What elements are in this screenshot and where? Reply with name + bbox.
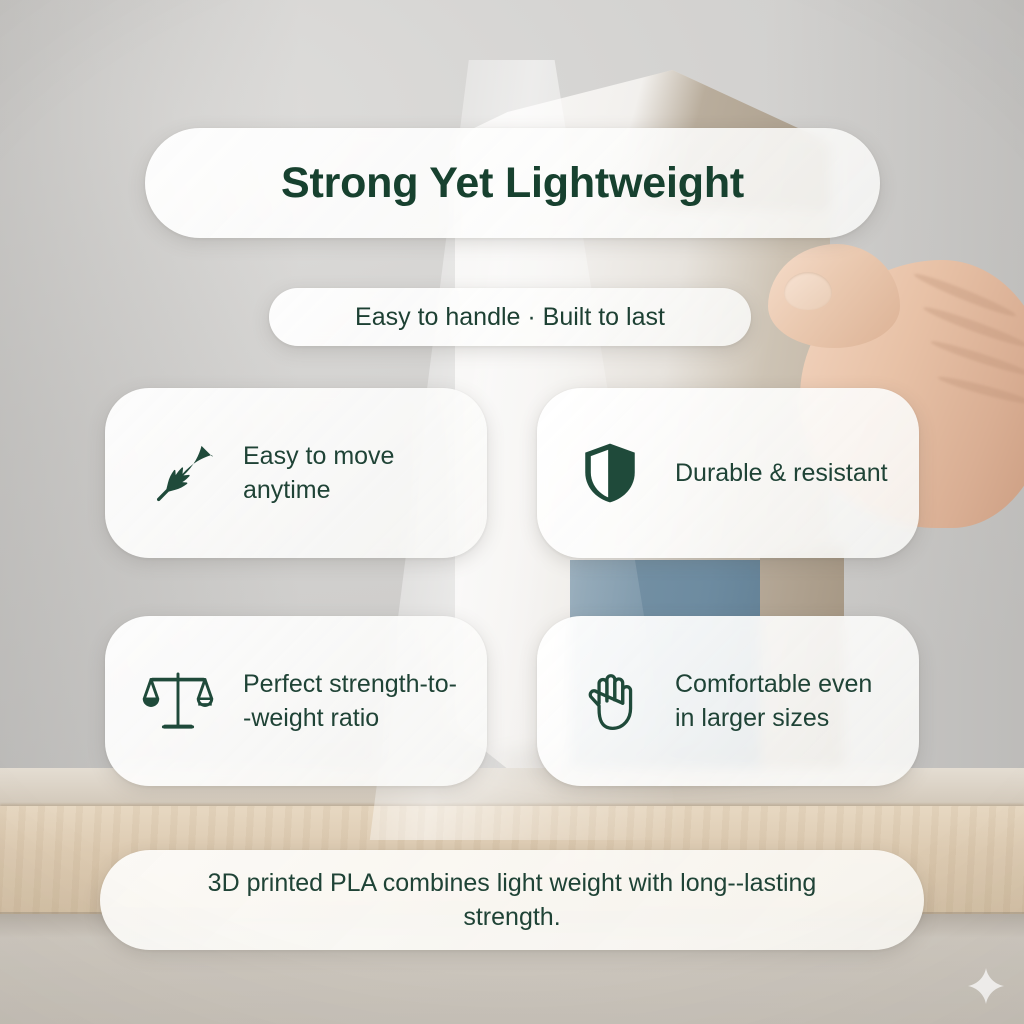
feature-card-strength-to-weight[interactable]: Perfect strength-to--weight ratio bbox=[105, 616, 487, 786]
feather-icon bbox=[139, 434, 217, 512]
hero-title-pill: Strong Yet Lightweight bbox=[145, 128, 880, 238]
feature-card-easy-to-move[interactable]: Easy to move anytime bbox=[105, 388, 487, 558]
hero-subtitle-pill: Easy to handle · Built to last bbox=[269, 288, 751, 346]
feature-card-comfortable-larger-sizes[interactable]: Comfortable even in larger sizes bbox=[537, 616, 919, 786]
page-title: Strong Yet Lightweight bbox=[281, 159, 744, 208]
scales-icon bbox=[139, 662, 217, 740]
page-subtitle: Easy to handle · Built to last bbox=[355, 303, 665, 332]
promo-graphic: Strong Yet Lightweight Easy to handle · … bbox=[0, 0, 1024, 1024]
open-hand-icon bbox=[571, 662, 649, 740]
footer-caption-pill: 3D printed PLA combines light weight wit… bbox=[100, 850, 924, 950]
feature-label: Comfortable even in larger sizes bbox=[675, 667, 895, 736]
thumb-nail bbox=[784, 272, 832, 310]
footer-caption: 3D printed PLA combines light weight wit… bbox=[172, 866, 852, 934]
feature-label: Durable & resistant bbox=[675, 456, 888, 491]
sparkle-icon bbox=[966, 966, 1006, 1006]
feature-label: Easy to move anytime bbox=[243, 439, 463, 508]
shield-icon bbox=[571, 434, 649, 512]
feature-label: Perfect strength-to--weight ratio bbox=[243, 667, 463, 736]
feature-card-durable-resistant[interactable]: Durable & resistant bbox=[537, 388, 919, 558]
